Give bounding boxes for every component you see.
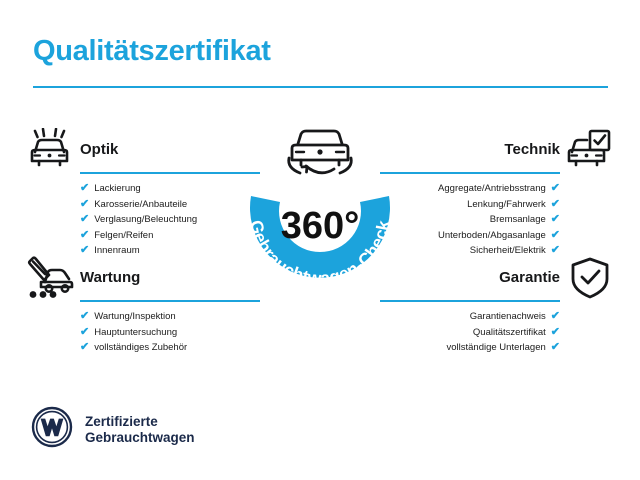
list-item: ✔Lenkung/Fahrwerk (380, 197, 560, 213)
list-item-label: Garantienachweis (470, 309, 546, 325)
list-item-label: Aggregate/Antriebsstrang (438, 181, 546, 197)
check-icon: ✔ (551, 212, 560, 228)
check-icon: ✔ (80, 309, 89, 325)
section-optik-title: Optik (80, 140, 260, 160)
list-item: ✔vollständiges Zubehör (80, 340, 260, 356)
list-item: ✔Aggregate/Antriebsstrang (380, 181, 560, 197)
page-title: Qualitätszertifikat (33, 35, 271, 68)
check-icon: ✔ (80, 197, 89, 213)
list-item-label: vollständige Unterlagen (446, 340, 545, 356)
section-optik-divider (80, 172, 260, 174)
list-item-label: Wartung/Inspektion (94, 309, 176, 325)
check-icon: ✔ (551, 325, 560, 341)
check-icon: ✔ (80, 212, 89, 228)
certificate-sheet: Qualitätszertifikat (0, 0, 640, 480)
check-icon: ✔ (80, 325, 89, 341)
check-icon: ✔ (551, 228, 560, 244)
list-item: ✔Felgen/Reifen (80, 228, 260, 244)
vw-lockup-text: Zertifizierte Gebrauchtwagen (85, 414, 195, 446)
list-item-label: Hauptuntersuchung (94, 325, 177, 341)
list-item: ✔Wartung/Inspektion (80, 309, 260, 325)
section-wartung-divider (80, 300, 260, 302)
check-icon: ✔ (551, 309, 560, 325)
section-optik-items: ✔Lackierung ✔Karosserie/Anbauteile ✔Verg… (80, 181, 260, 259)
section-technik: Technik ✔Aggregate/Antriebsstrang ✔Lenku… (380, 140, 560, 259)
section-garantie: Garantie ✔Garantienachweis ✔Qualitätszer… (380, 268, 560, 356)
vw-logo (31, 406, 73, 453)
check-icon: ✔ (80, 340, 89, 356)
section-garantie-title: Garantie (380, 268, 560, 288)
section-garantie-header: Garantie (380, 268, 560, 302)
list-item-label: Unterboden/Abgasanlage (438, 228, 546, 244)
list-item-label: Karosserie/Anbauteile (94, 197, 187, 213)
list-item: ✔Sicherheit/Elektrik (380, 243, 560, 259)
list-item-label: Innenraum (94, 243, 139, 259)
check-icon: ✔ (551, 340, 560, 356)
list-item-label: Sicherheit/Elektrik (470, 243, 546, 259)
section-technik-divider (380, 172, 560, 174)
list-item: ✔Unterboden/Abgasanlage (380, 228, 560, 244)
vw-lockup-line2: Gebrauchtwagen (85, 430, 195, 445)
section-optik: Optik ✔Lackierung ✔Karosserie/Anbauteile… (80, 140, 260, 259)
list-item: ✔Innenraum (80, 243, 260, 259)
section-garantie-items: ✔Garantienachweis ✔Qualitätszertifikat ✔… (380, 309, 560, 356)
list-item-label: vollständiges Zubehör (94, 340, 187, 356)
vw-lockup-line1: Zertifizierte (85, 414, 158, 429)
list-item-label: Felgen/Reifen (94, 228, 153, 244)
check-icon: ✔ (551, 181, 560, 197)
section-wartung-header: Wartung (80, 268, 260, 302)
section-optik-header: Optik (80, 140, 260, 174)
section-wartung-items: ✔Wartung/Inspektion ✔Hauptuntersuchung ✔… (80, 309, 260, 356)
car-shine-icon (27, 128, 73, 175)
check-icon: ✔ (551, 197, 560, 213)
section-wartung: Wartung ✔Wartung/Inspektion ✔Hauptunters… (80, 268, 260, 356)
list-item: ✔Lackierung (80, 181, 260, 197)
section-garantie-divider (380, 300, 560, 302)
section-wartung-title: Wartung (80, 268, 260, 288)
car-checkbox-icon (565, 128, 611, 175)
list-item: ✔Qualitätszertifikat (380, 325, 560, 341)
list-item-label: Bremsanlage (490, 212, 546, 228)
check-icon: ✔ (80, 228, 89, 244)
section-technik-header: Technik (380, 140, 560, 174)
list-item: ✔Hauptuntersuchung (80, 325, 260, 341)
list-item: ✔Bremsanlage (380, 212, 560, 228)
list-item: ✔vollständige Unterlagen (380, 340, 560, 356)
list-item-label: Lenkung/Fahrwerk (467, 197, 546, 213)
check-icon: ✔ (551, 243, 560, 259)
title-divider (33, 86, 608, 88)
list-item-label: Qualitätszertifikat (473, 325, 546, 341)
list-item: ✔Karosserie/Anbauteile (80, 197, 260, 213)
check-icon: ✔ (80, 181, 89, 197)
list-item: ✔Verglasung/Beleuchtung (80, 212, 260, 228)
badge-center-text: 360° (281, 205, 360, 247)
section-technik-title: Technik (380, 140, 560, 160)
section-technik-items: ✔Aggregate/Antriebsstrang ✔Lenkung/Fahrw… (380, 181, 560, 259)
shield-check-icon (569, 256, 611, 305)
check-icon: ✔ (80, 243, 89, 259)
wrench-car-icon (25, 256, 75, 305)
list-item-label: Lackierung (94, 181, 140, 197)
list-item: ✔Garantienachweis (380, 309, 560, 325)
vw-certified-lockup: Zertifizierte Gebrauchtwagen (31, 406, 195, 453)
list-item-label: Verglasung/Beleuchtung (94, 212, 197, 228)
